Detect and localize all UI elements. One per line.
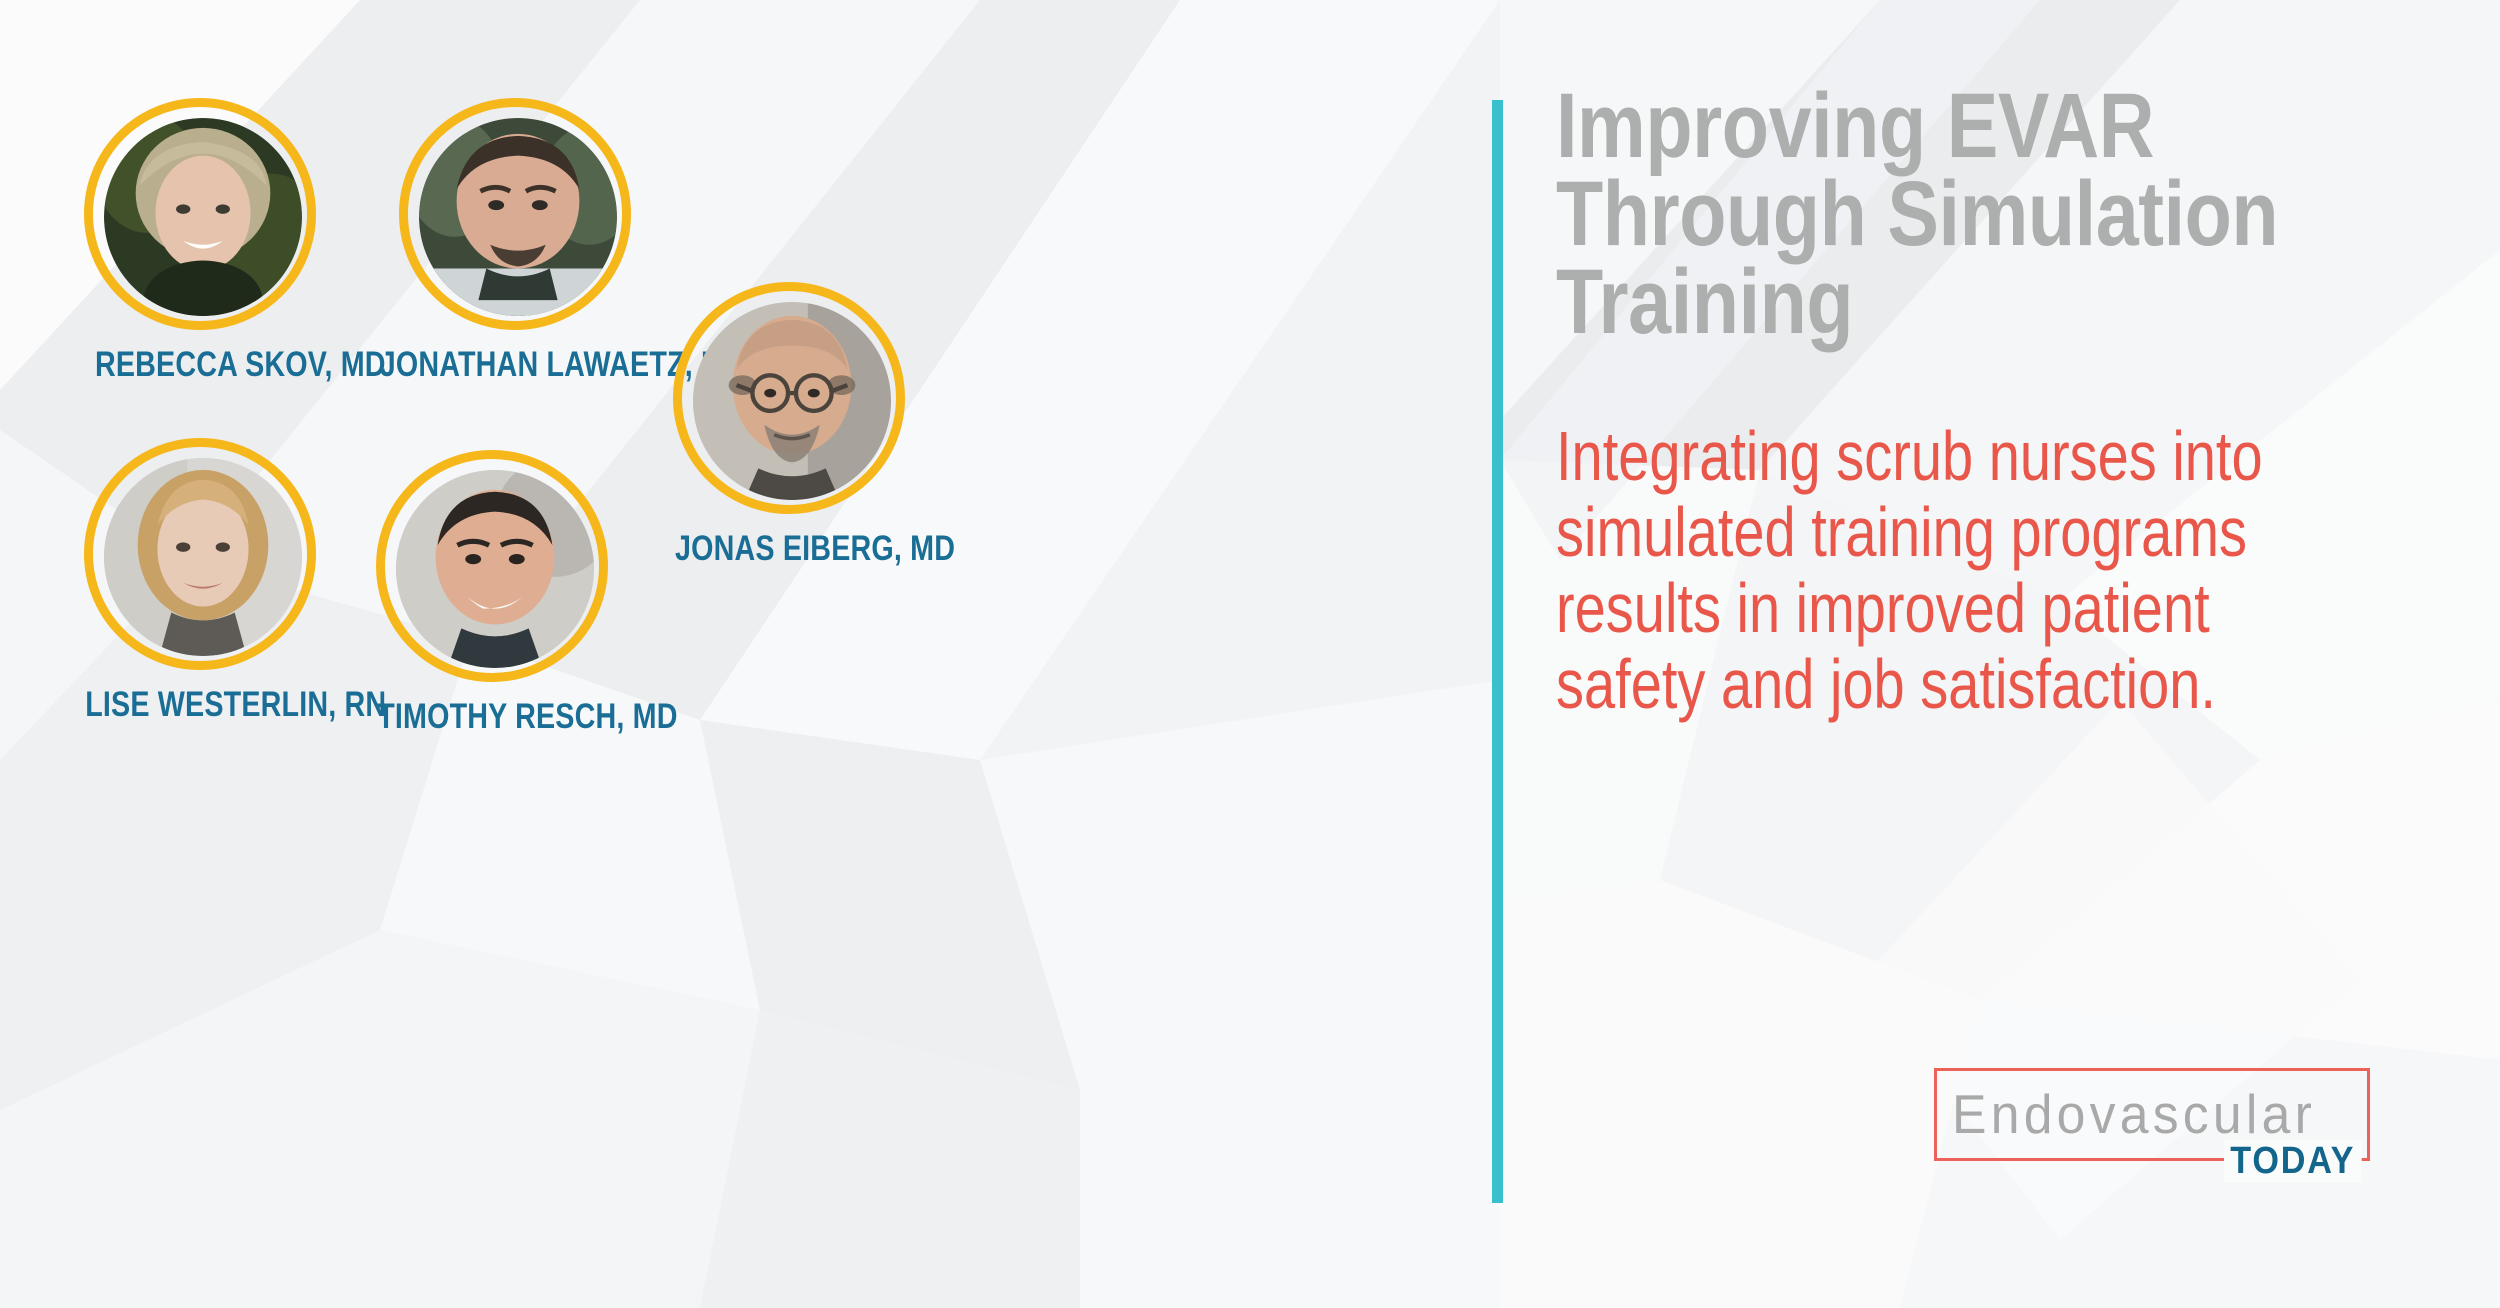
portrait-jonathan-lawaetz (419, 118, 617, 316)
portrait-ring (376, 450, 608, 682)
contributor-jonas-eiberg: JONAS EIBERG, MD (650, 282, 928, 568)
contributor-name: LISE WESTERLIN, RN (85, 686, 315, 724)
contributor-timothy-resch: TIMOTHY RESCH, MD (352, 450, 632, 736)
portrait-rebecca-skov (104, 118, 302, 316)
portrait-illustration (104, 118, 302, 316)
promo-graphic: REBECCA SKOV, MD (0, 0, 2500, 1308)
portrait-lise-westerlin (104, 458, 302, 656)
portrait-illustration (104, 458, 302, 656)
contributor-name: TIMOTHY RESCH, MD (377, 698, 607, 736)
portrait-timothy-resch (396, 470, 594, 668)
vertical-divider (1492, 100, 1503, 1203)
headline-panel: Improving EVAR Through Simulation Traini… (1556, 0, 2500, 1308)
deck-text: Integrating scrub nurses into simulated … (1556, 418, 2420, 722)
contributor-lise-westerlin: LISE WESTERLIN, RN (60, 438, 340, 724)
contributor-name: JONATHAN LAWAETZ, MD (380, 346, 651, 384)
portrait-illustration (419, 118, 617, 316)
contributors-panel: REBECCA SKOV, MD (0, 0, 1490, 1308)
page-title: Improving EVAR Through Simulation Traini… (1556, 82, 2312, 346)
portrait-ring (84, 438, 316, 670)
portrait-illustration (396, 470, 594, 668)
contributor-name: JONAS EIBERG, MD (675, 530, 903, 568)
contributor-name: REBECCA SKOV, MD (95, 346, 304, 384)
endovascular-today-logo: Endovascular TODAY (1934, 1068, 2370, 1196)
contributor-jonathan-lawaetz: JONATHAN LAWAETZ, MD (350, 98, 680, 384)
portrait-ring (399, 98, 631, 330)
portrait-illustration (693, 302, 891, 500)
portrait-ring (84, 98, 316, 330)
portrait-jonas-eiberg (693, 302, 891, 500)
portrait-ring (673, 282, 905, 514)
contributor-rebecca-skov: REBECCA SKOV, MD (72, 98, 327, 384)
logo-today-mark: TODAY (2224, 1140, 2362, 1182)
